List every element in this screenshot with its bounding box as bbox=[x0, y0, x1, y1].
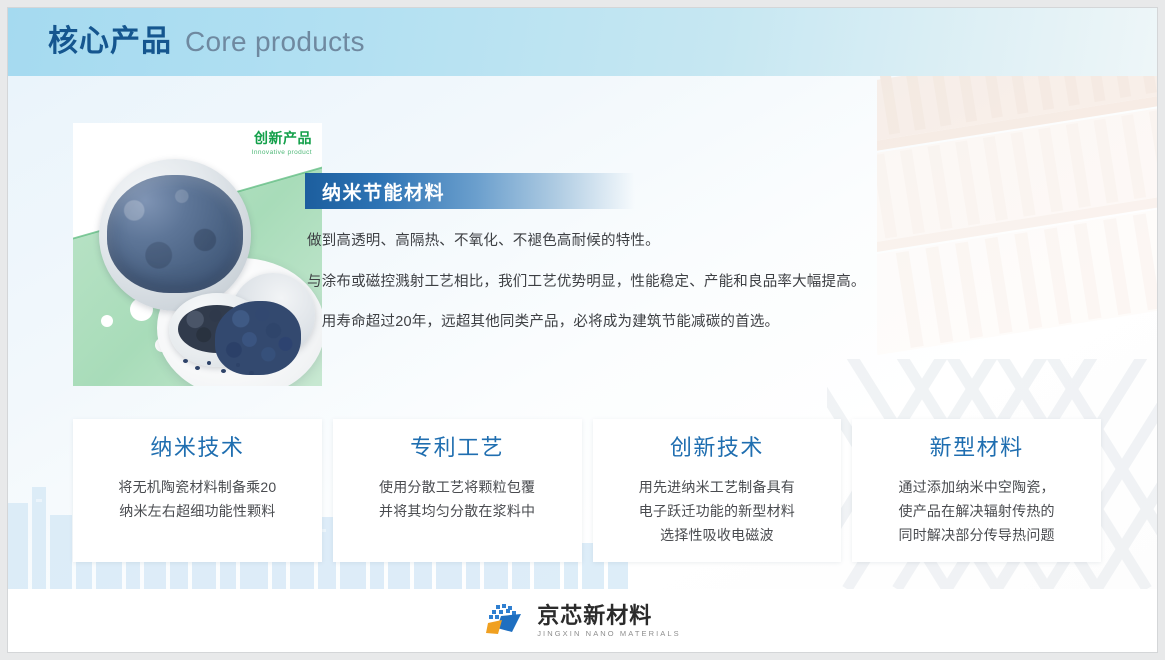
card-title: 创新技术 bbox=[670, 437, 764, 459]
feature-card-nano-technology[interactable]: 纳米技术 将无机陶瓷材料制备乘20 纳米左右超细功能性颗料 bbox=[73, 419, 322, 562]
logo-name-en: JINGXIN NANO MATERIALS bbox=[537, 630, 681, 638]
feature-card-list: 纳米技术 将无机陶瓷材料制备乘20 纳米左右超细功能性颗料 专利工艺 使用分散工… bbox=[73, 419, 1101, 562]
photo-petri-dish-large bbox=[99, 159, 251, 311]
product-paragraph: 做到高透明、高隔热、不氧化、不褪色高耐候的特性。 bbox=[307, 234, 967, 249]
photo-pellet-speck-6 bbox=[249, 371, 254, 375]
card-line: 用先进纳米工艺制备具有 bbox=[639, 475, 795, 499]
card-body: 通过添加纳米中空陶瓷， 使产品在解决辐射传热的 同时解决部分传导热问题 bbox=[899, 475, 1055, 547]
logo-mark-icon bbox=[484, 603, 528, 641]
deco-circle-1 bbox=[101, 315, 113, 327]
slide-body: 创新产品 Innovative product 纳米节 bbox=[8, 76, 1157, 589]
slide: 核心产品 Core products bbox=[7, 7, 1158, 653]
product-title: 纳米节能材料 bbox=[322, 178, 445, 205]
card-title: 专利工艺 bbox=[410, 437, 504, 459]
photo-pellet-speck-4 bbox=[221, 369, 226, 373]
photo-pellet-speck-5 bbox=[236, 363, 240, 367]
card-body: 将无机陶瓷材料制备乘20 纳米左右超细功能性颗料 bbox=[118, 475, 276, 523]
card-line: 通过添加纳米中空陶瓷， bbox=[899, 475, 1055, 499]
product-photo: 创新产品 Innovative product bbox=[73, 123, 322, 386]
card-body: 使用分散工艺将颗粒包覆 并将其均匀分散在浆料中 bbox=[379, 475, 535, 523]
card-line: 电子跃迁功能的新型材料 bbox=[639, 499, 795, 523]
photo-pellet-speck-1 bbox=[183, 359, 188, 363]
photo-blue-powder bbox=[107, 175, 243, 293]
card-line: 将无机陶瓷材料制备乘20 bbox=[118, 475, 276, 499]
company-logo: 京芯新材料 JINGXIN NANO MATERIALS bbox=[484, 603, 681, 641]
product-paragraph: 与涂布或磁控溅射工艺相比，我们工艺优势明显，性能稳定、产能和良品率大幅提高。 bbox=[307, 275, 967, 290]
card-line: 纳米左右超细功能性颗料 bbox=[118, 499, 276, 523]
feature-card-new-material[interactable]: 新型材料 通过添加纳米中空陶瓷， 使产品在解决辐射传热的 同时解决部分传导热问题 bbox=[852, 419, 1101, 562]
photo-badge-cn: 创新产品 bbox=[252, 129, 312, 147]
logo-text: 京芯新材料 JINGXIN NANO MATERIALS bbox=[537, 605, 681, 638]
page-title-en: Core products bbox=[185, 28, 365, 56]
card-line: 选择性吸收电磁波 bbox=[639, 523, 795, 547]
card-line: 使产品在解决辐射传热的 bbox=[899, 499, 1055, 523]
card-line: 并将其均匀分散在浆料中 bbox=[379, 499, 535, 523]
product-paragraph: 使用寿命超过20年，远超其他同类产品，必将成为建筑节能减碳的首选。 bbox=[307, 315, 967, 330]
slide-header: 核心产品 Core products bbox=[8, 8, 1157, 76]
page-title-cn: 核心产品 bbox=[48, 27, 172, 57]
logo-orange-wedge bbox=[486, 620, 502, 634]
logo-name-cn: 京芯新材料 bbox=[537, 605, 681, 627]
feature-card-patented-process[interactable]: 专利工艺 使用分散工艺将颗粒包覆 并将其均匀分散在浆料中 bbox=[333, 419, 582, 562]
photo-badge: 创新产品 Innovative product bbox=[252, 129, 312, 156]
product-title-bar: 纳米节能材料 bbox=[305, 173, 635, 209]
card-line: 同时解决部分传导热问题 bbox=[899, 523, 1055, 547]
card-line: 使用分散工艺将颗粒包覆 bbox=[379, 475, 535, 499]
photo-blue-pellets bbox=[215, 301, 301, 375]
card-title: 纳米技术 bbox=[150, 437, 244, 459]
card-title: 新型材料 bbox=[930, 437, 1024, 459]
photo-pellet-speck-3 bbox=[207, 361, 211, 365]
product-description: 做到高透明、高隔热、不氧化、不褪色高耐候的特性。 与涂布或磁控溅射工艺相比，我们… bbox=[307, 234, 967, 356]
card-body: 用先进纳米工艺制备具有 电子跃迁功能的新型材料 选择性吸收电磁波 bbox=[639, 475, 795, 547]
header-title-group: 核心产品 Core products bbox=[48, 8, 365, 76]
feature-card-innovative-technology[interactable]: 创新技术 用先进纳米工艺制备具有 电子跃迁功能的新型材料 选择性吸收电磁波 bbox=[593, 419, 842, 562]
photo-badge-en: Innovative product bbox=[252, 149, 312, 156]
slide-footer: 京芯新材料 JINGXIN NANO MATERIALS bbox=[8, 589, 1157, 653]
photo-pellet-speck-2 bbox=[195, 366, 200, 370]
